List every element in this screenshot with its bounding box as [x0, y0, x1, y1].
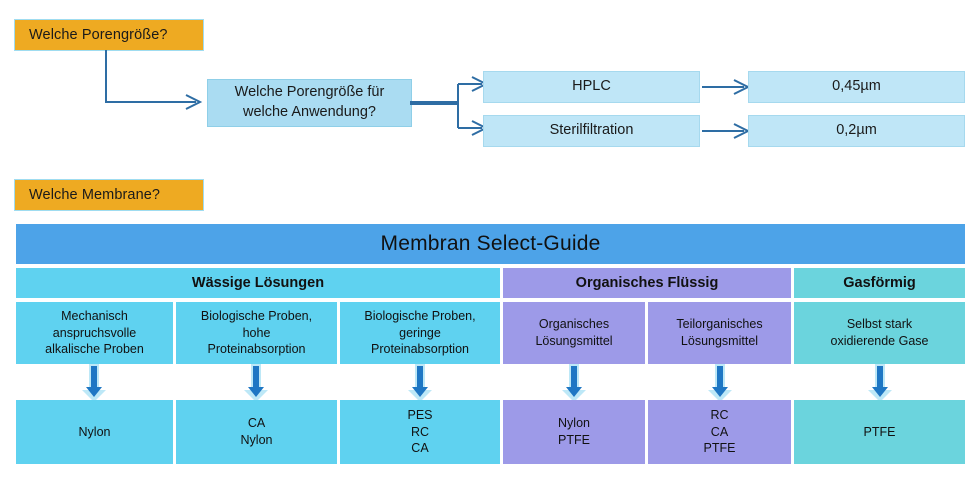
- arrow-down-icon-3: [560, 364, 588, 402]
- result-cell-2: PES RC CA: [340, 400, 500, 464]
- membrane-question-box: Welche Membrane?: [14, 179, 204, 211]
- criteria-label-5: Selbst stark oxidierende Gase: [831, 316, 929, 350]
- result-label-4: RC CA PTFE: [704, 407, 736, 458]
- result-label-0: Nylon: [79, 424, 111, 441]
- group-header-label-1: Organisches Flüssig: [576, 275, 719, 291]
- criteria-label-1: Biologische Proben, hohe Proteinabsorpti…: [201, 308, 312, 359]
- decision-box: Welche Porengröße für welche Anwendung?: [207, 79, 412, 127]
- start-question-label: Welche Porengröße?: [29, 27, 168, 43]
- arrow-down-icon-4: [706, 364, 734, 402]
- criteria-label-3: Organisches Lösungsmittel: [535, 316, 612, 350]
- result-cell-0: Nylon: [16, 400, 173, 464]
- criteria-cell-0: Mechanisch anspruchsvolle alkalische Pro…: [16, 302, 173, 364]
- result-cell-4: RC CA PTFE: [648, 400, 791, 464]
- criteria-cell-1: Biologische Proben, hohe Proteinabsorpti…: [176, 302, 337, 364]
- pore-size-label-045: 0,45µm: [832, 77, 881, 97]
- application-box-sterilfiltration: Sterilfiltration: [483, 115, 700, 147]
- membran-select-guide-table: Membran Select-Guide Wässige Lösungen Or…: [16, 224, 965, 468]
- criteria-cell-2: Biologische Proben, geringe Proteinabsor…: [340, 302, 500, 364]
- pore-size-label-02: 0,2µm: [836, 121, 877, 141]
- guide-title-bar: Membran Select-Guide: [16, 224, 965, 264]
- connector-hplc-to-poresize: [702, 79, 750, 95]
- result-label-3: Nylon PTFE: [558, 415, 590, 449]
- application-box-hplc: HPLC: [483, 71, 700, 103]
- criteria-cell-4: Teilorganisches Lösungsmittel: [648, 302, 791, 364]
- arrow-down-icon-1: [242, 364, 270, 402]
- result-label-2: PES RC CA: [407, 407, 432, 458]
- connector-branch-bracket: [410, 76, 488, 138]
- group-header-waessige-loesungen: Wässige Lösungen: [16, 268, 500, 298]
- arrow-down-icon-2: [406, 364, 434, 402]
- connector-sterilfiltration-to-poresize: [702, 123, 750, 139]
- criteria-cell-3: Organisches Lösungsmittel: [503, 302, 645, 364]
- group-header-label-2: Gasförmig: [843, 275, 916, 291]
- result-label-1: CA Nylon: [241, 415, 273, 449]
- group-header-organisches-fluessig: Organisches Flüssig: [503, 268, 791, 298]
- start-question-box: Welche Porengröße?: [14, 19, 204, 51]
- application-label-sterilfiltration: Sterilfiltration: [550, 121, 634, 141]
- pore-size-box-045: 0,45µm: [748, 71, 965, 103]
- membrane-question-label: Welche Membrane?: [29, 187, 160, 203]
- criteria-label-2: Biologische Proben, geringe Proteinabsor…: [364, 308, 475, 359]
- criteria-cell-5: Selbst stark oxidierende Gase: [794, 302, 965, 364]
- criteria-label-4: Teilorganisches Lösungsmittel: [676, 316, 762, 350]
- result-cell-5: PTFE: [794, 400, 965, 464]
- arrow-down-icon-5: [866, 364, 894, 402]
- decision-label: Welche Porengröße für welche Anwendung?: [235, 83, 385, 122]
- result-cell-3: Nylon PTFE: [503, 400, 645, 464]
- pore-size-box-02: 0,2µm: [748, 115, 965, 147]
- connector-start-to-decision: [100, 50, 212, 112]
- criteria-label-0: Mechanisch anspruchsvolle alkalische Pro…: [45, 308, 144, 359]
- result-cell-1: CA Nylon: [176, 400, 337, 464]
- group-header-gasfoermig: Gasförmig: [794, 268, 965, 298]
- group-header-label-0: Wässige Lösungen: [192, 275, 324, 291]
- guide-title: Membran Select-Guide: [381, 232, 601, 256]
- arrow-down-icon-0: [80, 364, 108, 402]
- application-label-hplc: HPLC: [572, 77, 611, 97]
- result-label-5: PTFE: [864, 424, 896, 441]
